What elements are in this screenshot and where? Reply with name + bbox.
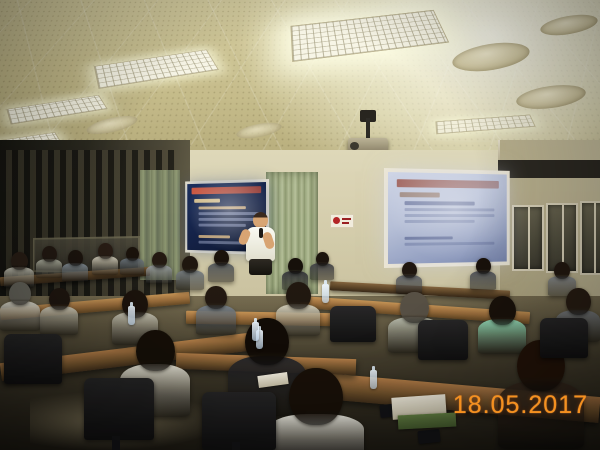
water-bottle (252, 322, 259, 341)
attendee (120, 247, 144, 275)
slide-bullet (405, 242, 495, 246)
office-chair (4, 334, 62, 384)
attendee-head (68, 250, 83, 266)
attendee-head (288, 258, 303, 274)
slide-bullet (405, 236, 453, 239)
attendee-head (400, 292, 429, 323)
office-chair (540, 318, 588, 358)
attendee-head (554, 262, 570, 279)
attendee-head (136, 330, 175, 371)
slide-bullet (405, 208, 495, 211)
right-projection-screen (388, 172, 507, 264)
window-pane-3 (580, 201, 600, 275)
attendee-head (49, 288, 70, 310)
attendee-head (205, 286, 227, 309)
smartphone (417, 429, 440, 444)
slide-subtitle (194, 199, 220, 203)
attendee (4, 252, 34, 286)
water-bottle (322, 284, 329, 303)
attendee-head (286, 282, 311, 309)
attendee-head (152, 252, 167, 268)
attendee-head (182, 256, 198, 273)
attendee (208, 250, 234, 280)
attendee-head (214, 250, 229, 266)
presenter-legs (249, 259, 272, 275)
presenter (240, 212, 280, 274)
water-bottle (370, 370, 377, 389)
office-chair (418, 320, 468, 360)
slide-subtitle (400, 192, 440, 197)
slide-title-bar (192, 186, 262, 194)
attendee-head (566, 288, 591, 315)
attendee (36, 246, 62, 276)
attendee (146, 252, 172, 282)
attendee (310, 252, 334, 280)
slide-bullet (405, 214, 495, 217)
attendee (0, 282, 40, 330)
attendee (470, 258, 496, 288)
chair-base (232, 442, 240, 450)
slide-bullet (405, 220, 475, 223)
attendee (62, 250, 88, 280)
lecture-hall-photo: 18.05.2017 (0, 0, 600, 450)
attendee-head (9, 282, 31, 305)
attendee-head (289, 368, 343, 425)
attendee-body (0, 301, 40, 331)
water-bottle (128, 306, 135, 325)
window-shade (498, 160, 600, 178)
attendee (176, 256, 204, 288)
window-pane-1 (512, 205, 544, 271)
attendee (40, 288, 78, 334)
attendee-head (98, 243, 113, 259)
attendee (92, 243, 118, 273)
microphone (259, 228, 263, 238)
attendee-head (11, 252, 28, 270)
attendee-head (316, 252, 329, 266)
presenter-head (253, 212, 268, 228)
attendee-head (42, 246, 57, 262)
slide-bullet (199, 235, 230, 238)
projector-pole (366, 118, 370, 140)
office-chair (84, 378, 154, 440)
attendee-head (402, 262, 417, 278)
wall-sign-line (342, 222, 349, 224)
attendee-head (489, 296, 516, 325)
slide-bullet (405, 201, 475, 205)
wall-sign (330, 214, 354, 228)
projector-lens (350, 142, 359, 150)
date-stamp: 18.05.2017 (453, 391, 588, 420)
attendee-head (476, 258, 491, 274)
slide-title-bar (397, 179, 499, 188)
right-slide (388, 172, 507, 264)
office-chair (330, 306, 376, 342)
chair-base (112, 436, 120, 450)
attendee (396, 262, 422, 292)
wall-sign-line (342, 218, 351, 220)
attendee-body (40, 306, 78, 335)
slide-bullet (199, 224, 246, 227)
slide-bullet (199, 206, 246, 209)
wall-sign-mark (333, 217, 340, 224)
attendee-head (126, 247, 139, 261)
attendee-head (122, 290, 148, 318)
